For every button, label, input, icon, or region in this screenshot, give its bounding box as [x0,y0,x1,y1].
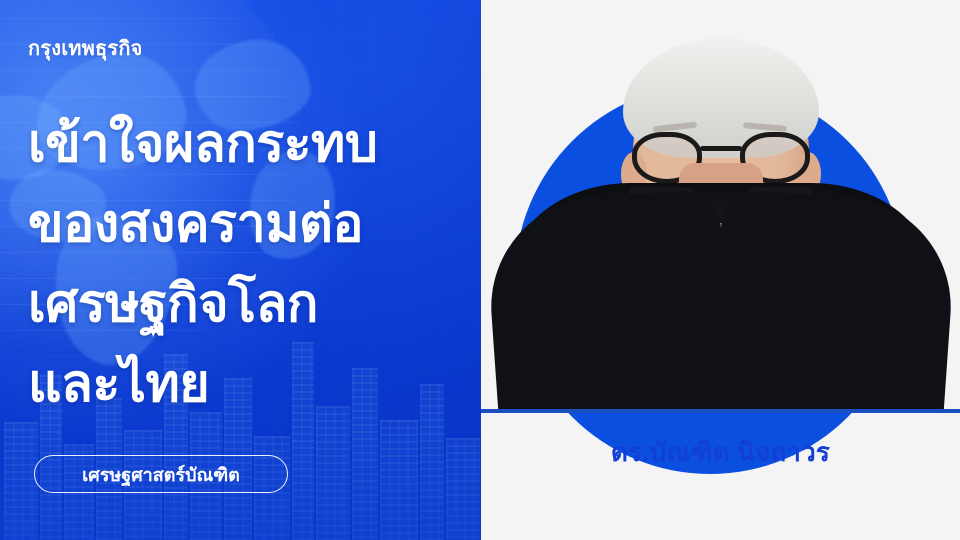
speaker-name: ดร.บัณฑิต นิจถาวร [481,432,960,473]
headline-line-2: ของสงครามต่อ [28,184,468,264]
headline-line-3: เศรษฐกิจโลก [28,264,468,344]
category-badge: เศรษฐศาสตร์บัณฑิต [34,455,288,493]
promo-card: กรุงเทพธุรกิจ เข้าใจผลกระทบ ของสงครามต่อ… [0,0,960,540]
headline: เข้าใจผลกระทบ ของสงครามต่อ เศรษฐกิจโลก แ… [28,104,468,424]
divider-rule [481,409,960,413]
headline-line-1: เข้าใจผลกระทบ [28,104,468,184]
headline-line-4: และไทย [28,344,468,424]
right-panel: ดร.บัณฑิต นิจถาวร [481,0,960,540]
speaker-portrait [481,0,960,413]
brand-logo-text: กรุงเทพธุรกิจ [28,32,143,64]
left-panel: กรุงเทพธุรกิจ เข้าใจผลกระทบ ของสงครามต่อ… [0,0,481,540]
